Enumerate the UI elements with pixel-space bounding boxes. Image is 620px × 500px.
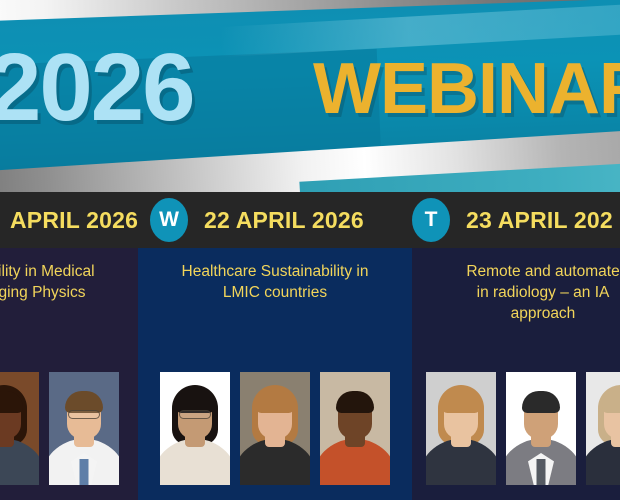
speaker-photo [240, 372, 310, 485]
date-item-1[interactable]: T APRIL 2026 [0, 192, 138, 248]
webinar-poster: 2026 WEBINAR T APRIL 2026 W 22 APRIL 202… [0, 0, 620, 500]
portrait-tie [537, 459, 546, 485]
day-letter-badge-3: T [412, 198, 450, 242]
session-title-2: Healthcare Sustainability inLMIC countri… [138, 262, 412, 304]
speaker-photo [0, 372, 39, 485]
portrait-hair-top [256, 391, 294, 413]
date-bar: T APRIL 2026 W 22 APRIL 2026 T 23 APRIL … [0, 192, 620, 248]
portrait-tie [80, 459, 89, 485]
date-label-3: 23 APRIL 202 [466, 207, 613, 234]
date-label-1: APRIL 2026 [10, 207, 138, 234]
date-label-2: 22 APRIL 2026 [204, 207, 364, 234]
portrait-glasses [68, 410, 100, 419]
speaker-photo [160, 372, 230, 485]
day-letter-badge-2: W [150, 198, 188, 242]
speaker-photos-3 [412, 372, 620, 485]
banner-text-group: 2026 WEBINAR [0, 0, 620, 192]
banner: 2026 WEBINAR [0, 0, 620, 192]
portrait-hair-top [336, 391, 374, 413]
date-item-2[interactable]: W 22 APRIL 2026 [150, 192, 364, 248]
banner-year: 2026 [0, 40, 194, 136]
speaker-photos-2 [138, 372, 412, 485]
speaker-photo [506, 372, 576, 485]
session-columns: bility in Medicalging Physics Healthcare… [0, 248, 620, 500]
session-column-2[interactable]: Healthcare Sustainability inLMIC countri… [138, 248, 412, 500]
speaker-photos-1 [0, 372, 138, 485]
banner-title: WEBINAR [313, 48, 620, 131]
speaker-photo [426, 372, 496, 485]
portrait-hair-top [442, 391, 480, 413]
date-item-3[interactable]: T 23 APRIL 202 [412, 192, 613, 248]
speaker-photo [320, 372, 390, 485]
portrait-hair-top [522, 391, 560, 413]
speaker-photo [49, 372, 119, 485]
speaker-photo [586, 372, 620, 485]
session-title-1: bility in Medicalging Physics [0, 262, 138, 304]
portrait-glasses [179, 410, 211, 419]
session-column-1[interactable]: bility in Medicalging Physics [0, 248, 138, 500]
session-column-3[interactable]: Remote and automatein radiology – an IAa… [412, 248, 620, 500]
session-title-3: Remote and automatein radiology – an IAa… [412, 262, 620, 325]
